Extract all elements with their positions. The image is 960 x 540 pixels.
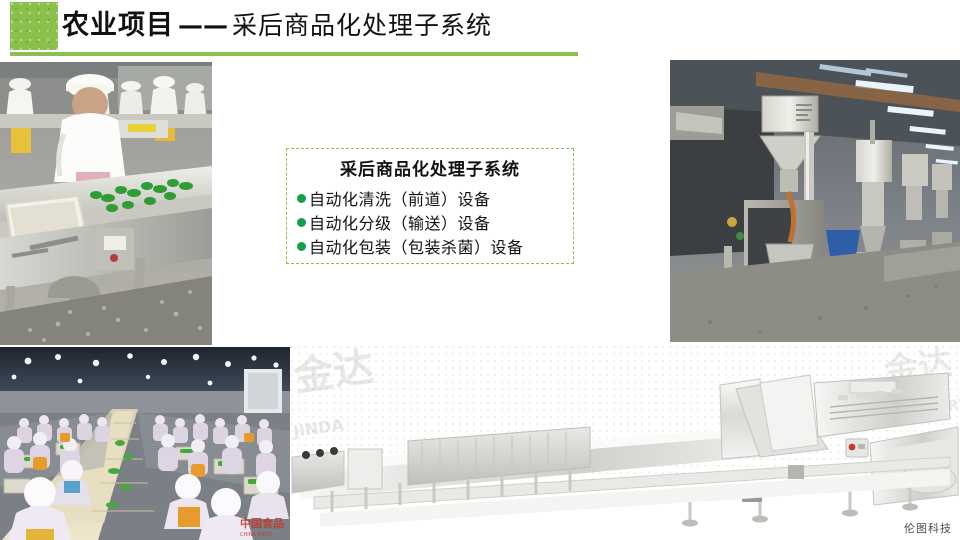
slide: 农业项目——采后商品化处理子系统 bbox=[0, 0, 960, 540]
sorting-line-photo-art bbox=[0, 62, 212, 345]
footer-brand: 伦图科技 bbox=[904, 520, 952, 536]
title-underline bbox=[10, 52, 578, 56]
washing-line-photo: 金达 JINDA 金达 MACHINERY bbox=[290, 345, 960, 540]
list-item-label: 自动化清洗（前道）设备 bbox=[309, 186, 491, 210]
page-title-dash: —— bbox=[174, 11, 232, 40]
processing-hall-photo: 中国食品 CHINA FOOD bbox=[0, 347, 290, 540]
packaging-machines-photo-art bbox=[670, 60, 960, 342]
bullet-icon bbox=[297, 242, 306, 251]
bullet-icon bbox=[297, 218, 306, 227]
list-item-label: 自动化包装（包装杀菌）设备 bbox=[309, 234, 524, 258]
svg-text:CHINA FOOD: CHINA FOOD bbox=[240, 532, 272, 538]
list-item: 自动化分级（输送）设备 bbox=[297, 210, 573, 234]
bullet-icon bbox=[297, 194, 306, 203]
sorting-line-photo bbox=[0, 62, 212, 345]
callout-box: 采后商品化处理子系统 自动化清洗（前道）设备 自动化分级（输送）设备 自动化包装… bbox=[286, 148, 574, 264]
washing-line-photo-art: 金达 JINDA 金达 MACHINERY bbox=[290, 345, 960, 540]
callout-title: 采后商品化处理子系统 bbox=[287, 155, 573, 180]
title-accent-block bbox=[10, 2, 58, 50]
title-band: 农业项目——采后商品化处理子系统 bbox=[0, 0, 960, 56]
page-title-main: 农业项目 bbox=[62, 10, 174, 41]
svg-text:中国食品: 中国食品 bbox=[240, 516, 284, 530]
packaging-machines-photo bbox=[670, 60, 960, 342]
page-title-sub: 采后商品化处理子系统 bbox=[232, 11, 492, 40]
processing-hall-photo-art: 中国食品 CHINA FOOD bbox=[0, 347, 290, 540]
callout-list: 自动化清洗（前道）设备 自动化分级（输送）设备 自动化包装（包装杀菌）设备 bbox=[287, 186, 573, 258]
list-item: 自动化清洗（前道）设备 bbox=[297, 186, 573, 210]
page-title: 农业项目——采后商品化处理子系统 bbox=[62, 5, 492, 47]
list-item: 自动化包装（包装杀菌）设备 bbox=[297, 234, 573, 258]
list-item-label: 自动化分级（输送）设备 bbox=[309, 210, 491, 234]
